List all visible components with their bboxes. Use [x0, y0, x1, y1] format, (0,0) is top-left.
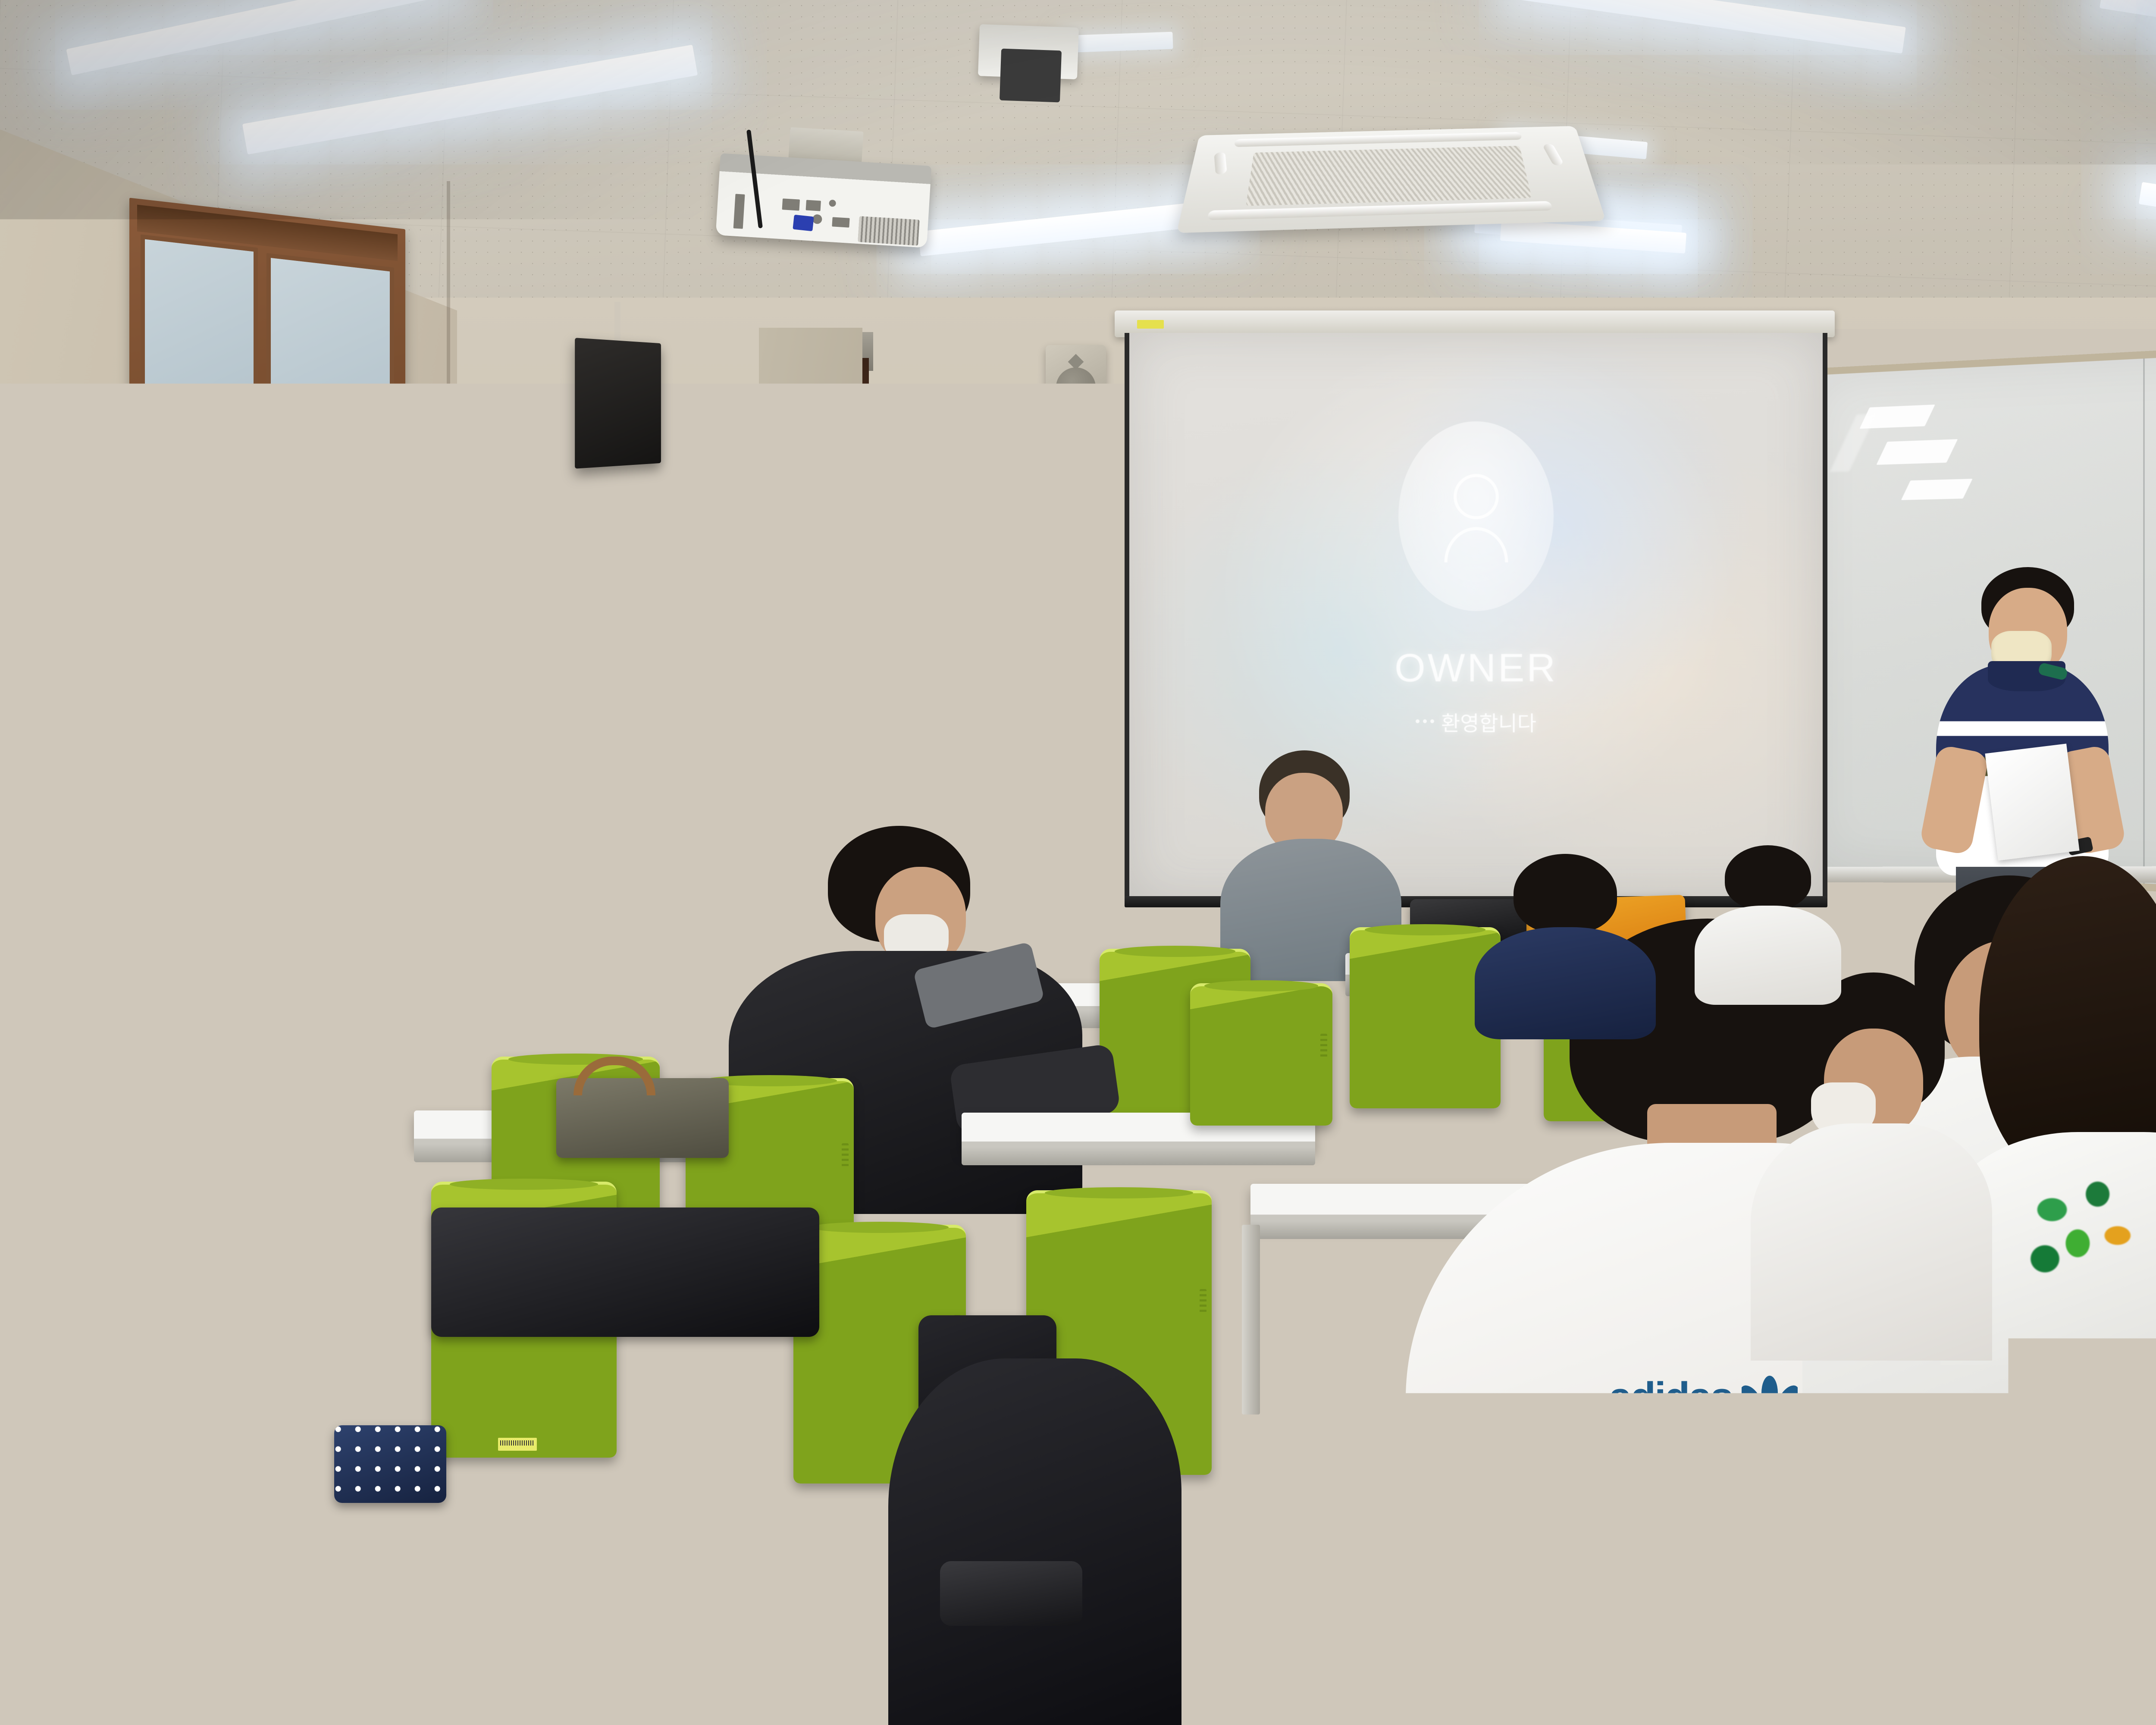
adidas-trefoil-icon	[1742, 1376, 1798, 1419]
projector-port	[829, 200, 836, 207]
desk-leg	[1242, 1225, 1260, 1414]
polka-dot-pouch[interactable]	[334, 1425, 446, 1503]
print-building-side-roof	[22, 1225, 73, 1233]
tropical-leaf-print	[2009, 1158, 2152, 1287]
sign-floorplan	[761, 693, 781, 724]
hair	[1514, 854, 1617, 934]
speaker-tweeter	[1068, 354, 1084, 370]
print-tower	[71, 1183, 95, 1235]
student	[1695, 845, 1841, 1000]
projector-port	[733, 194, 745, 229]
projector-port	[806, 200, 821, 211]
student	[888, 1289, 1181, 1725]
light-reflection	[1876, 439, 1958, 465]
ac-grille	[1246, 146, 1532, 206]
classroom-scene: OWNER 환영합니다 대구대학교 UNIVERSITY	[0, 0, 2156, 1725]
login-user-name: OWNER	[1395, 646, 1557, 691]
projector-port	[782, 198, 800, 210]
desk-leg	[1337, 1609, 1358, 1725]
loading-dots-icon	[1416, 719, 1434, 723]
sign-instructions	[736, 692, 760, 732]
window-latch[interactable]	[280, 409, 286, 424]
ac-vane	[1214, 151, 1227, 175]
torso	[1475, 927, 1656, 1039]
projector-lens-housing	[1000, 49, 1062, 103]
login-welcome-text: 환영합니다	[1416, 706, 1536, 737]
projector-port	[832, 217, 849, 227]
user-avatar-icon	[1398, 421, 1554, 611]
classroom-chair[interactable]	[95, 992, 241, 1138]
window	[129, 198, 405, 574]
ceiling-projector	[716, 153, 932, 248]
torso	[888, 1358, 1181, 1725]
classroom-chair[interactable]	[1190, 983, 1332, 1126]
ac-vane	[1234, 132, 1523, 147]
projector-port	[812, 214, 822, 224]
doorknob[interactable]	[1026, 774, 1049, 797]
welcome-korean-text: 환영합니다	[1441, 706, 1536, 737]
projector-port	[858, 216, 919, 245]
adidas-brand-text: adidas	[1609, 1377, 1732, 1418]
avatar-glyph	[1432, 470, 1520, 562]
student	[1475, 854, 1656, 1035]
shoe	[940, 1561, 1082, 1626]
black-duffel-bag[interactable]	[431, 1207, 819, 1337]
sign-floorplan	[712, 693, 732, 724]
ac-vane	[1542, 143, 1564, 166]
wall-monitor	[575, 338, 661, 469]
speaker-cone	[1056, 367, 1096, 407]
housing-label-tag	[1137, 320, 1164, 329]
classroom-desk	[276, 1024, 535, 1056]
eyeglasses	[147, 957, 211, 988]
light-reflection	[1901, 479, 1973, 500]
asset-barcode-tag	[498, 1438, 537, 1451]
eyeglasses	[292, 839, 335, 861]
classroom-chair[interactable]	[110, 1190, 317, 1492]
window-pane	[266, 253, 394, 565]
hair	[1725, 845, 1811, 910]
sign-header-bar	[711, 682, 782, 689]
monitor-mount	[614, 302, 620, 345]
torso	[1751, 1123, 1992, 1361]
vga-connector	[793, 215, 814, 232]
wall-speaker	[1046, 345, 1106, 420]
paper-sheet[interactable]	[1985, 743, 2079, 860]
air-conditioner	[1177, 126, 1606, 233]
student	[1751, 972, 1992, 1361]
light-reflection	[1830, 414, 1877, 472]
torso	[1695, 906, 1841, 1005]
window-pane	[141, 235, 258, 546]
